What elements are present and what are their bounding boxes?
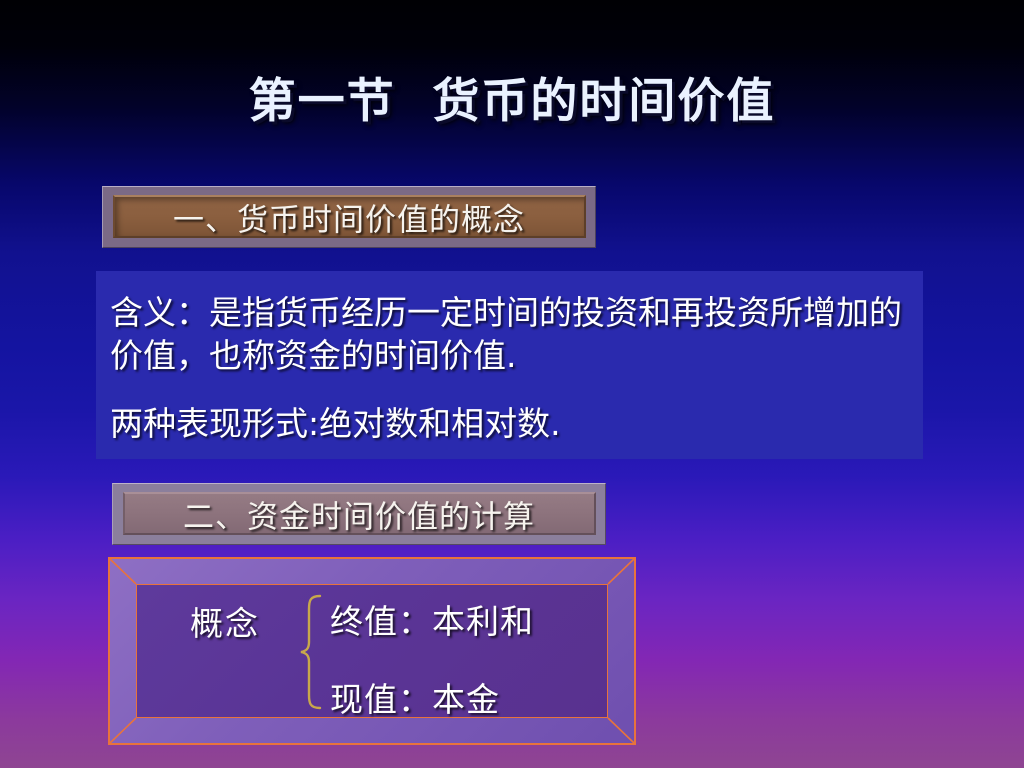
definition-paragraph-2: 两种表现形式:绝对数和相对数. [110, 402, 917, 445]
brace-left-curly-icon [296, 593, 326, 711]
concept-item-2: 现值：本金 [330, 673, 500, 721]
definition-text-panel: 含义：是指货币经历一定时间的投资和再投资所增加的价值，也称资金的时间价值. 两种… [96, 271, 923, 459]
section-header-box-2: 二、资金时间价值的计算 [112, 483, 606, 545]
concept-item-1: 终值：本利和 [330, 595, 534, 643]
concept-label: 概念 [190, 597, 260, 645]
section-header-label-2: 二、资金时间价值的计算 [113, 492, 605, 537]
section-header-box-1: 一、货币时间价值的概念 [102, 186, 596, 248]
slide-title: 第一节 货币的时间价值 [0, 62, 1024, 131]
definition-paragraph-1: 含义：是指货币经历一定时间的投资和再投资所增加的价值，也称资金的时间价值. [110, 291, 917, 377]
section-header-label-1: 一、货币时间价值的概念 [103, 195, 595, 240]
presentation-slide: 第一节 货币的时间价值 一、货币时间价值的概念 含义：是指货币经历一定时间的投资… [0, 0, 1024, 768]
concept-diagram-box: 概念 终值：本利和 现值：本金 [108, 557, 636, 745]
